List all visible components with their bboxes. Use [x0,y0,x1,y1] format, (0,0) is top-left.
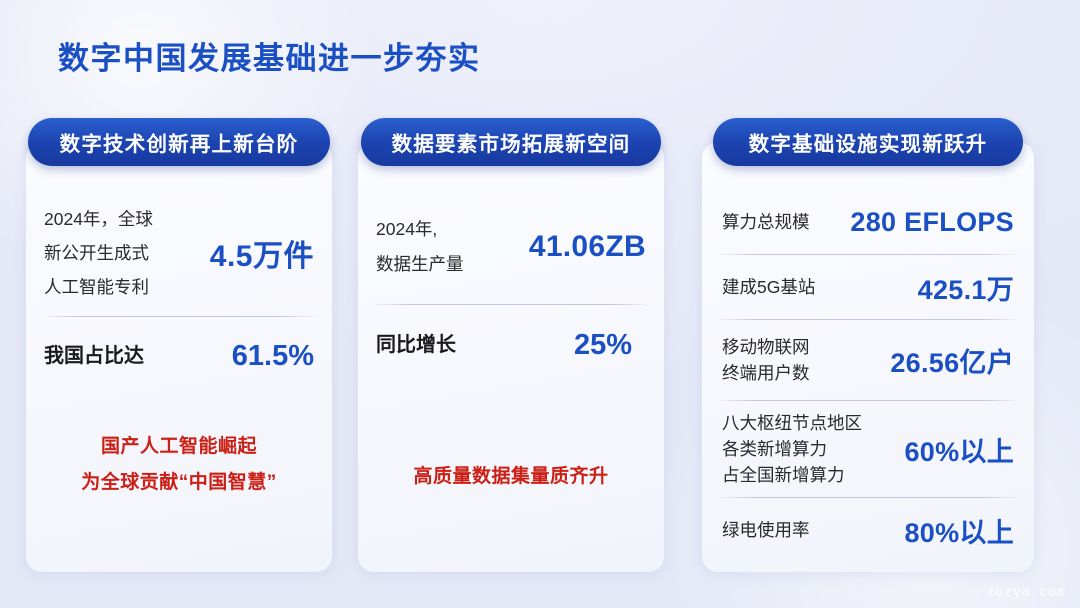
watermark: zozya.com [987,585,1066,600]
card-2-stat-production-label: 2024年, 数据生产量 [376,212,464,282]
card-3-stat-green-power: 绿电使用率 80%以上 [702,498,1034,562]
card-3-stat-hub-nodes-value: 60%以上 [904,430,1014,469]
card-digital-technology: 数字技术创新再上新台阶 2024年，全球 新公开生成式 人工智能专利 4.5万件… [26,118,332,572]
card-1-stat-share-value: 61.5% [232,340,314,373]
card-3-stat-iot-users: 移动物联网 终端用户数 26.56亿户 [702,320,1034,400]
card-2-footnote: 高质量数据集量质齐升 [358,385,664,494]
card-3-header: 数字基础设施实现新跃升 [713,118,1023,166]
card-3-stat-computing-power: 算力总规模 280 EFLOPS [702,190,1034,254]
card-3-stat-iot-users-value: 26.56亿户 [890,341,1014,380]
card-3-stat-5g-stations: 建成5G基站 425.1万 [702,255,1034,319]
card-1-stat-share: 我国占比达 61.5% [26,317,332,395]
card-2-stat-growth-label: 同比增长 [376,330,456,361]
card-1-stat-patents: 2024年，全球 新公开生成式 人工智能专利 4.5万件 [26,190,332,316]
card-3-stat-hub-nodes: 八大枢纽节点地区 各类新增算力 占全国新增算力 60%以上 [702,401,1034,497]
card-3-stat-green-power-value: 80%以上 [904,511,1014,550]
card-1-stat-share-label: 我国占比达 [44,341,144,372]
card-2-stat-production: 2024年, 数据生产量 41.06ZB [358,190,664,304]
card-1-footnote: 国产人工智能崛起 为全球贡献“中国智慧” [26,395,332,499]
card-2-stat-growth: 同比增长 25% [358,305,664,385]
cards-container: 数字技术创新再上新台阶 2024年，全球 新公开生成式 人工智能专利 4.5万件… [0,118,1080,588]
card-3-stat-computing-power-label: 算力总规模 [722,209,810,235]
card-1-body: 2024年，全球 新公开生成式 人工智能专利 4.5万件 我国占比达 61.5%… [26,142,332,572]
page-title: 数字中国发展基础进一步夯实 [58,40,481,77]
card-2-stat-growth-value: 25% [574,329,646,362]
card-3-stat-5g-stations-value: 425.1万 [918,268,1014,307]
card-2-body: 2024年, 数据生产量 41.06ZB 同比增长 25% 高质量数据集量质齐升 [358,142,664,572]
card-2-stat-production-value: 41.06ZB [529,230,646,264]
card-1-stat-patents-label: 2024年，全球 新公开生成式 人工智能专利 [44,202,153,304]
card-3-stat-green-power-label: 绿电使用率 [722,517,810,543]
card-data-market: 数据要素市场拓展新空间 2024年, 数据生产量 41.06ZB 同比增长 25… [358,118,664,572]
card-3-stat-hub-nodes-label: 八大枢纽节点地区 各类新增算力 占全国新增算力 [722,410,862,489]
card-infrastructure: 数字基础设施实现新跃升 算力总规模 280 EFLOPS 建成5G基站 425.… [702,118,1034,572]
card-1-stat-patents-value: 4.5万件 [210,231,314,275]
card-3-stat-5g-stations-label: 建成5G基站 [722,274,815,300]
card-3-stat-iot-users-label: 移动物联网 终端用户数 [722,334,810,387]
card-1-header: 数字技术创新再上新台阶 [28,118,330,166]
card-2-header: 数据要素市场拓展新空间 [361,118,661,166]
card-3-stat-computing-power-value: 280 EFLOPS [850,207,1014,238]
card-3-body: 算力总规模 280 EFLOPS 建成5G基站 425.1万 移动物联网 终端用… [702,142,1034,572]
